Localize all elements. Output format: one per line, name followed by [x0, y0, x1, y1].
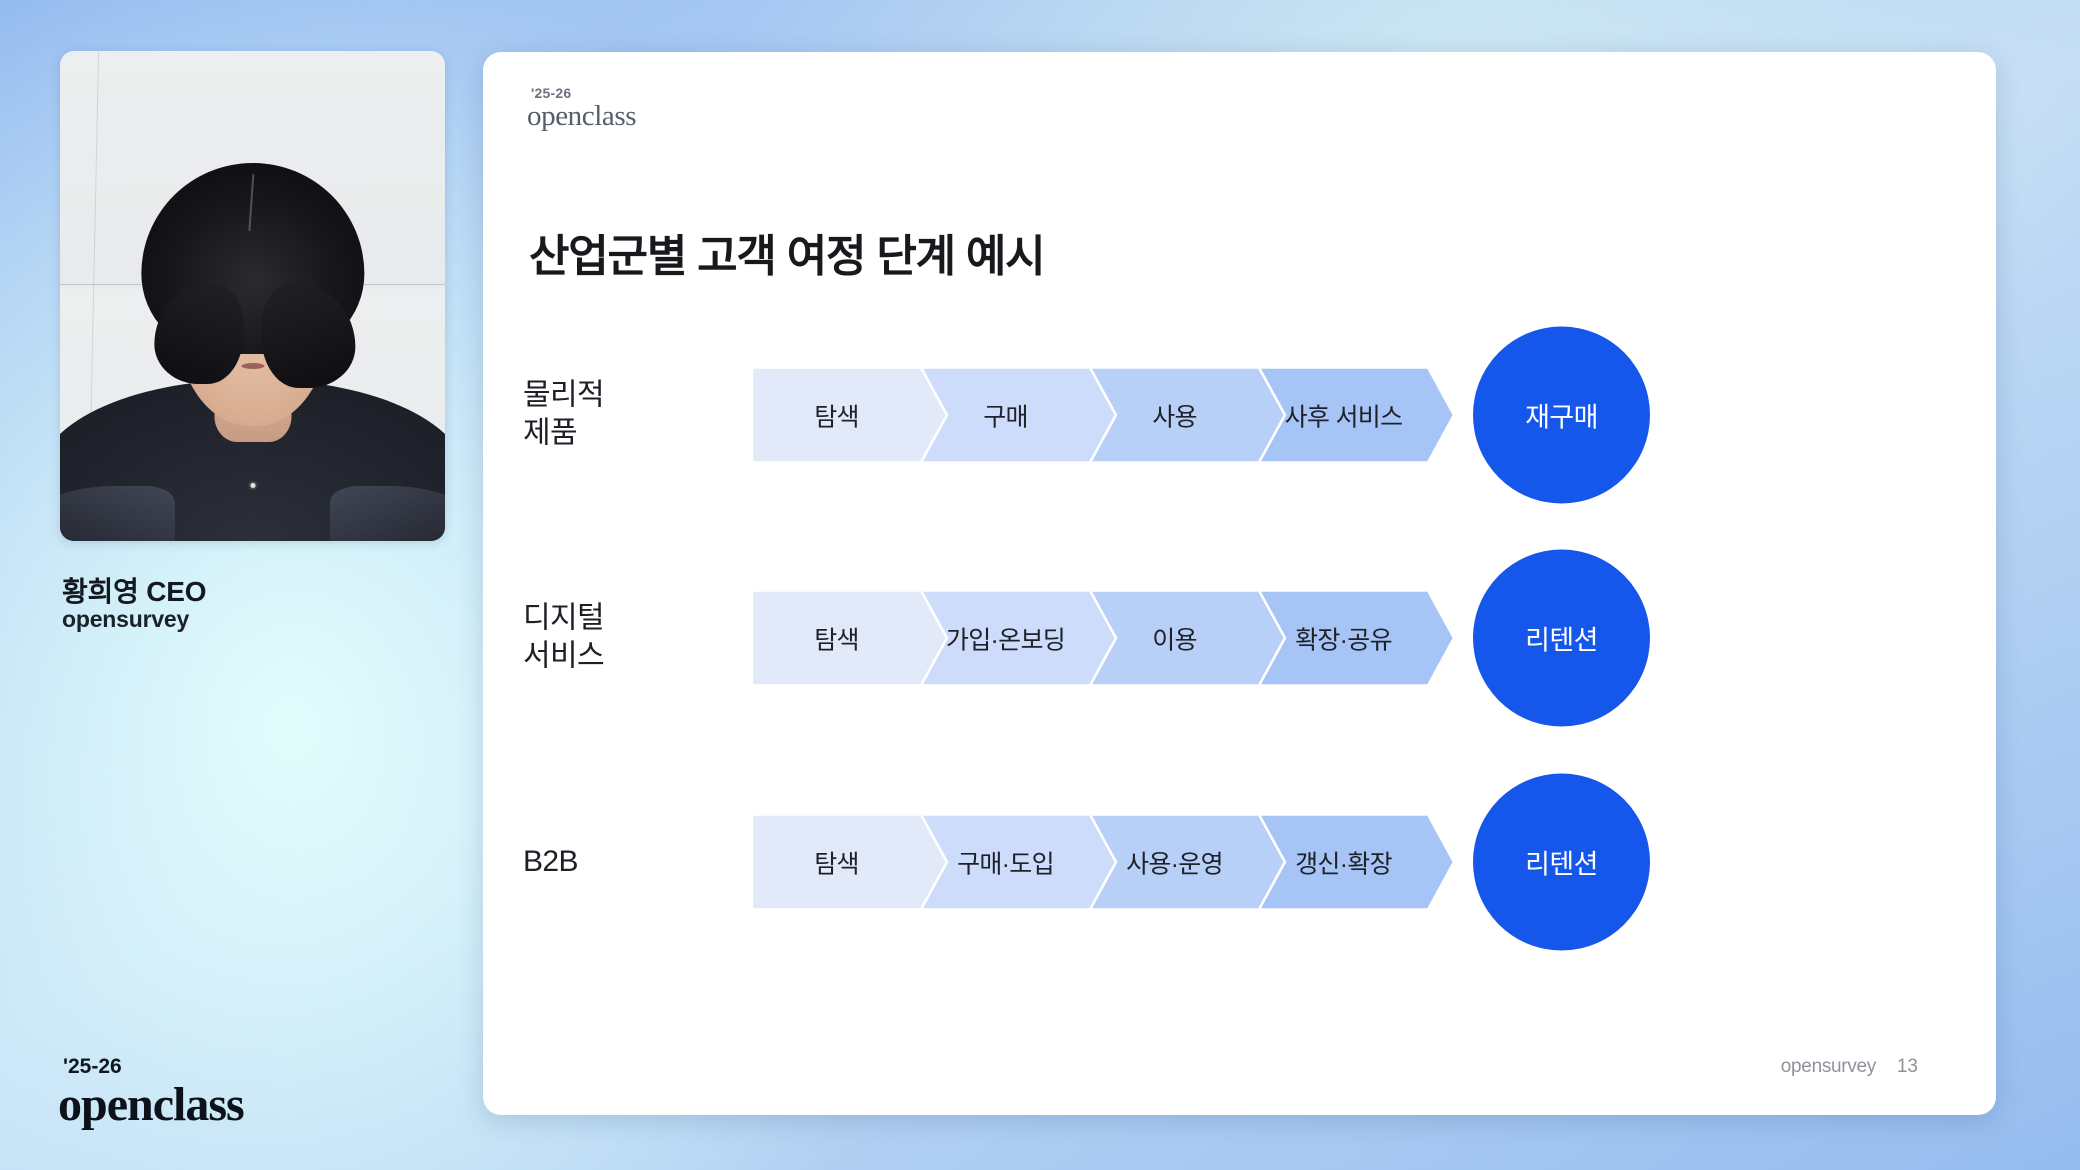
journey-stage-label: 사용 [1090, 397, 1259, 433]
webcam-video-tile[interactable] [60, 51, 445, 541]
journey-stage-label: 갱신·확장 [1259, 844, 1428, 880]
journey-row-label: B2B [523, 843, 738, 881]
sleeve-right [330, 486, 445, 541]
sleeve-left [60, 486, 175, 541]
slide-logo-name: openclass [527, 100, 636, 133]
journey-stage-strip: 탐색가입·온보딩이용확장·공유 [752, 591, 1428, 686]
journey-outcome-label: 재구매 [1525, 396, 1598, 435]
openclass-brand-name: openclass [58, 1077, 244, 1132]
hair-bang-right [261, 285, 355, 388]
journey-stage-label: 가입·온보딩 [921, 620, 1090, 656]
slide-logo-year: '25-26 [531, 85, 571, 101]
journey-stage-strip: 탐색구매사용사후 서비스 [752, 368, 1428, 463]
journey-row: B2B탐색구매·도입사용·운영갱신·확장리텐션 [483, 792, 1996, 932]
journey-outcome-badge[interactable]: 리텐션 [1473, 550, 1650, 727]
journey-row: 디지털서비스탐색가입·온보딩이용확장·공유리텐션 [483, 568, 1996, 708]
journey-row: 물리적제품탐색구매사용사후 서비스재구매 [483, 345, 1996, 485]
journey-stage-label: 사용·운영 [1090, 844, 1259, 880]
journey-stage-label: 사후 서비스 [1259, 397, 1428, 433]
journey-stage-label: 탐색 [752, 844, 921, 880]
journey-row-label-line: 제품 [523, 415, 738, 453]
journey-row-label: 물리적제품 [523, 377, 738, 454]
journey-outcome-label: 리텐션 [1525, 843, 1598, 882]
journey-stage-label: 구매·도입 [921, 844, 1090, 880]
journey-stage-label: 탐색 [752, 620, 921, 656]
footer-brand: opensurvey [1781, 1056, 1876, 1078]
journey-stage-label: 탐색 [752, 397, 921, 433]
journey-row-label-line: 서비스 [523, 638, 738, 676]
footer-page-number: 13 [1897, 1056, 1918, 1078]
presenter-hair [141, 163, 364, 354]
hair-part-line [248, 174, 254, 231]
journey-row-label-line: 디지털 [523, 600, 738, 638]
presenter-panel: 황희영 CEO opensurvey '25-26 openclass [0, 0, 483, 1170]
journey-stage-strip: 탐색구매·도입사용·운영갱신·확장 [752, 815, 1428, 910]
journey-outcome-label: 리텐션 [1525, 619, 1598, 658]
mouth [241, 363, 264, 369]
necklace-pendant [250, 483, 255, 488]
speaker-organization: opensurvey [62, 606, 189, 633]
openclass-brand-year: '25-26 [63, 1055, 122, 1079]
journey-stage-label: 구매 [921, 397, 1090, 433]
slide-card: '25-26 openclass 산업군별 고객 여정 단계 예시 물리적제품탐… [483, 52, 1996, 1115]
journey-outcome-badge[interactable]: 재구매 [1473, 327, 1650, 504]
journey-row-label: 디지털서비스 [523, 600, 738, 677]
presenter-figure [60, 159, 445, 541]
journey-stage-label: 이용 [1090, 620, 1259, 656]
page-title: 산업군별 고객 여정 단계 예시 [529, 220, 1044, 284]
journey-row-label-line: 물리적 [523, 377, 738, 415]
speaker-name: 황희영 CEO [62, 570, 206, 610]
hair-bang-left [154, 285, 243, 384]
journey-row-label-line: B2B [523, 843, 738, 881]
slide-stage: 황희영 CEO opensurvey '25-26 openclass '25-… [0, 0, 2080, 1170]
journey-outcome-badge[interactable]: 리텐션 [1473, 774, 1650, 951]
journey-stage-label: 확장·공유 [1259, 620, 1428, 656]
